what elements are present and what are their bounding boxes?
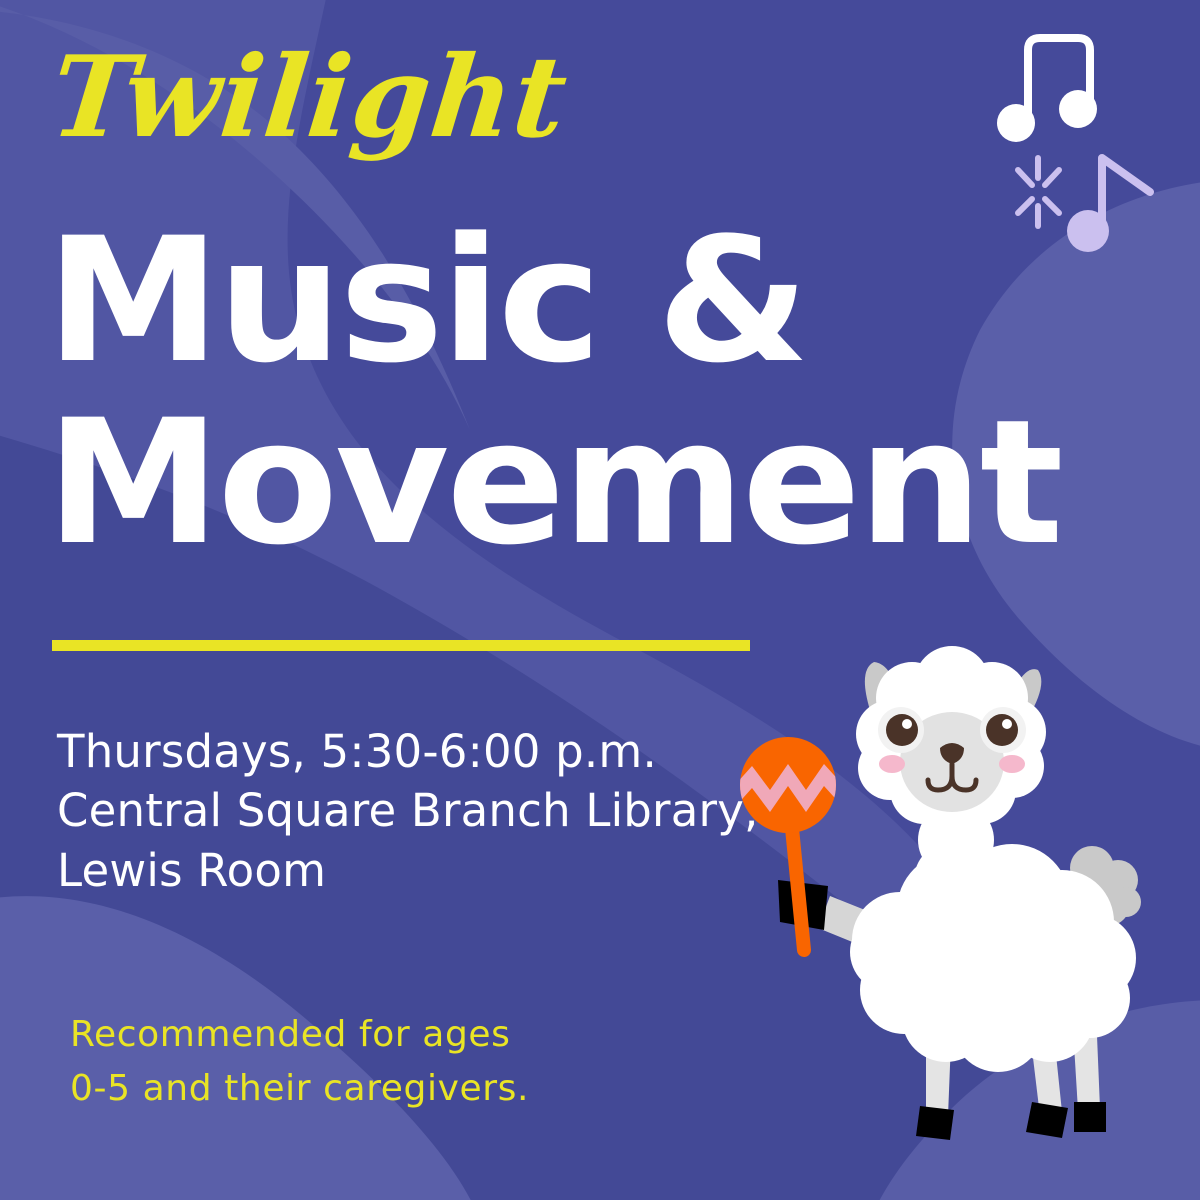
- age-recommendation: Recommended for ages 0-5 and their careg…: [70, 1008, 529, 1116]
- music-notes-decoration: [990, 10, 1200, 260]
- yellow-divider-rule: [52, 640, 750, 651]
- age-recommendation-line: 0-5 and their caregivers.: [70, 1062, 529, 1116]
- llama-hoof: [916, 1106, 954, 1140]
- llama-hoof: [1074, 1102, 1106, 1132]
- sparkle-icon: [1018, 158, 1059, 226]
- event-details: Thursdays, 5:30-6:00 p.m. Central Square…: [57, 722, 759, 900]
- event-detail-line: Central Square Branch Library,: [57, 781, 759, 840]
- age-recommendation-line: Recommended for ages: [70, 1008, 529, 1062]
- llama-hoof: [1026, 1102, 1068, 1138]
- script-title: Twilight: [46, 42, 572, 154]
- llama-with-maraca-illustration: [740, 640, 1200, 1170]
- eighth-note-icon: [1067, 158, 1150, 252]
- event-detail-line: Lewis Room: [57, 841, 759, 900]
- beamed-eighth-notes-icon: [997, 38, 1097, 142]
- poster-canvas: Twilight Music & Movement Thursdays, 5:3…: [0, 0, 1200, 1200]
- event-detail-line: Thursdays, 5:30-6:00 p.m.: [57, 722, 759, 781]
- headline-line-1: Music &: [46, 222, 807, 380]
- headline-line-2: Movement: [46, 404, 1061, 562]
